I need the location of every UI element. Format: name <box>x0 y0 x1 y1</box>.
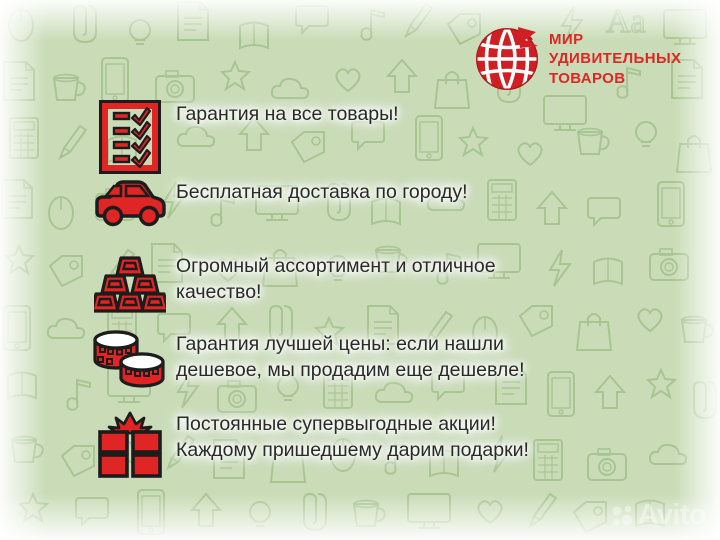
feature-text-delivery: Бесплатная доставка по городу! <box>176 178 468 206</box>
red-globe-logo-icon <box>474 26 540 92</box>
gift-box-icon <box>84 410 176 478</box>
feature-item-best-price: Гарантия лучшей цены: если нашли дешевое… <box>84 330 525 390</box>
brand-logo-text: МИР УДИВИТЕЛЬНЫХ ТОВАРОВ <box>549 30 681 89</box>
logo-line-1: МИР <box>549 30 681 50</box>
feature-text-warranty: Гарантия на все товары! <box>176 100 399 128</box>
feature-line: Гарантия лучшей цены: если нашли <box>176 332 525 358</box>
feature-item-warranty: Гарантия на все товары! <box>84 100 399 174</box>
feature-item-delivery: Бесплатная доставка по городу! <box>84 178 468 228</box>
feature-line: Каждому пришедшему дарим подарки! <box>176 438 529 464</box>
feature-line: Бесплатная доставка по городу! <box>176 180 468 206</box>
feature-line: Гарантия на все товары! <box>176 102 399 128</box>
promo-banner: Aa <box>0 0 720 540</box>
avito-wordmark: Avito <box>638 501 706 530</box>
coin-stacks-icon <box>84 330 176 390</box>
feature-text-gifts: Постоянные супервыгодные акции! Каждому … <box>176 410 529 464</box>
feature-line: Постоянные супервыгодные акции! <box>176 412 529 438</box>
avito-dots-icon <box>612 505 634 527</box>
feature-line: Огромный ассортимент и отличное <box>176 254 496 280</box>
feature-text-best-price: Гарантия лучшей цены: если нашли дешевое… <box>176 330 525 384</box>
avito-watermark: Avito <box>612 501 706 530</box>
feature-item-assortment: Огромный ассортимент и отличное качество… <box>84 252 496 314</box>
gold-bars-pyramid-icon <box>84 252 176 314</box>
logo-line-2: УДИВИТЕЛЬНЫХ <box>549 49 681 69</box>
car-delivery-icon <box>84 178 176 228</box>
feature-item-gifts: Постоянные супервыгодные акции! Каждому … <box>84 410 529 478</box>
checklist-clipboard-icon <box>84 100 176 174</box>
logo-line-3: ТОВАРОВ <box>549 69 681 89</box>
brand-logo: МИР УДИВИТЕЛЬНЫХ ТОВАРОВ <box>474 26 681 92</box>
feature-line: качество! <box>176 280 496 306</box>
feature-text-assortment: Огромный ассортимент и отличное качество… <box>176 252 496 306</box>
feature-line: дешевое, мы продадим еще дешевле! <box>176 358 525 384</box>
